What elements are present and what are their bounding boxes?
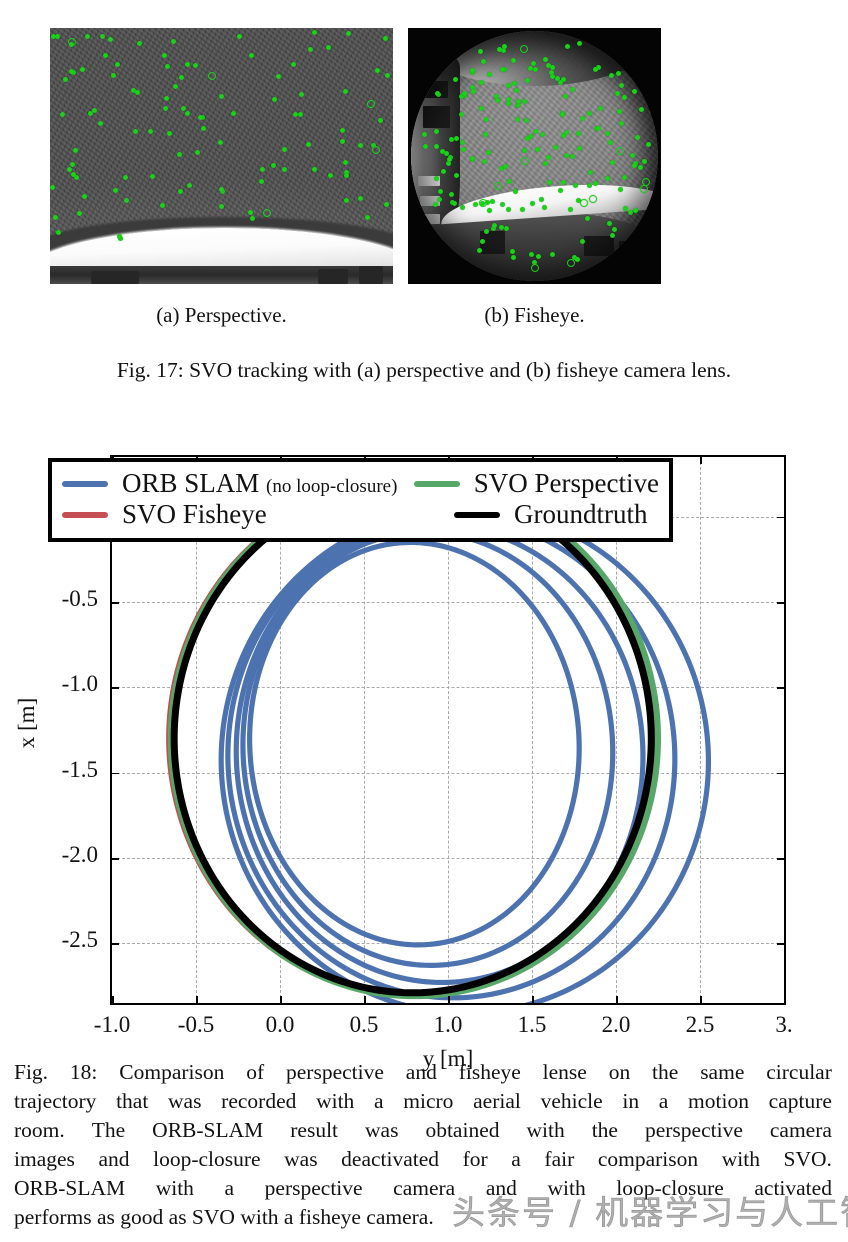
feature-point (340, 139, 345, 144)
feature-point (299, 92, 304, 97)
figure-17-caption: Fig. 17: SVO tracking with (a) perspecti… (0, 358, 848, 383)
x-tick-label: 2.5 (660, 1012, 740, 1038)
axis-tick (111, 943, 119, 945)
legend-entry-svo-perspective: SVO Perspective (414, 468, 659, 499)
legend-entry-svo-fisheye: SVO Fisheye (62, 499, 454, 530)
feature-point (593, 67, 598, 72)
axis-tick (616, 996, 618, 1004)
feature-point (550, 252, 555, 257)
x-tick-label: 0.5 (324, 1012, 404, 1038)
feature-point (70, 162, 75, 167)
feature-point (585, 216, 590, 221)
feature-point (525, 136, 530, 141)
feature-point (308, 47, 313, 52)
feature-point (306, 142, 311, 147)
feature-point (511, 58, 516, 63)
axis-tick (532, 996, 534, 1004)
feature-point (162, 53, 167, 58)
axis-tick (448, 996, 450, 1004)
feature-point (137, 41, 142, 46)
feature-point (514, 88, 519, 93)
axis-tick (111, 773, 119, 775)
axis-tick (112, 996, 114, 1004)
feature-point (616, 147, 624, 155)
feature-point (460, 140, 465, 145)
feature-point (449, 192, 454, 197)
feature-point (148, 129, 153, 134)
feature-point (181, 106, 186, 111)
feature-point (622, 175, 627, 180)
feature-point (55, 34, 60, 39)
feature-point (312, 167, 317, 172)
feature-point (100, 34, 105, 39)
axis-tick (784, 456, 786, 464)
feature-point (520, 207, 525, 212)
feature-point (543, 161, 548, 166)
feature-point (173, 84, 178, 89)
feature-point (326, 45, 331, 50)
fisheye-disc (411, 31, 659, 282)
feature-point (619, 83, 624, 88)
feature-point (520, 45, 528, 53)
axis-tick (777, 602, 785, 604)
y-tick-label: -2.5 (0, 927, 98, 953)
x-tick-label: 2.0 (576, 1012, 656, 1038)
feature-point (358, 196, 363, 201)
y-axis-title: x [m] (14, 663, 40, 783)
feature-point (529, 252, 534, 257)
feature-point (633, 208, 638, 213)
feature-point (447, 157, 452, 162)
axis-tick (111, 858, 119, 860)
legend-entry-orb-slam: ORB SLAM (no loop-closure) (62, 468, 414, 499)
feature-point (276, 74, 281, 79)
figure-18: ORB SLAM (no loop-closure) SVO Perspecti… (0, 430, 848, 1050)
feature-point (108, 37, 113, 42)
feature-point (271, 163, 276, 168)
axis-tick (777, 943, 785, 945)
legend-swatch-orb-slam (62, 481, 108, 487)
feature-point (512, 81, 517, 86)
feature-point (434, 144, 439, 149)
feature-point (565, 44, 570, 49)
legend-swatch-svo-perspective (414, 481, 460, 487)
perspective-object (318, 269, 349, 284)
feature-point (178, 189, 183, 194)
feature-point (135, 90, 140, 95)
feature-point (635, 135, 640, 140)
legend-row: ORB SLAM (no loop-closure) SVO Perspecti… (62, 468, 659, 499)
x-tick-label: -1.0 (72, 1012, 152, 1038)
axis-tick (280, 996, 282, 1004)
feature-point (478, 49, 483, 54)
feature-point (479, 199, 487, 207)
feature-point (593, 181, 598, 186)
feature-point (372, 146, 380, 154)
feature-point (550, 65, 555, 70)
perspective-object (359, 266, 383, 284)
feature-point (587, 183, 592, 188)
feature-point (564, 153, 569, 158)
feature-point (60, 112, 65, 117)
feature-point (502, 44, 507, 49)
feature-point (522, 99, 527, 104)
x-tick-label: 1.5 (492, 1012, 572, 1038)
fisheye-camera-image (408, 28, 661, 284)
watermark: 头条号 / 机器学习与人工智能 (452, 1186, 848, 1234)
legend-label-svo-perspective: SVO Perspective (474, 468, 659, 499)
feature-point (533, 67, 538, 72)
feature-point (555, 76, 560, 81)
axis-tick (196, 996, 198, 1004)
axis-tick (777, 517, 785, 519)
y-tick-label: -0.5 (0, 586, 98, 612)
feature-point (588, 170, 593, 175)
axis-tick (777, 687, 785, 689)
feature-point (481, 59, 486, 64)
y-tick-label: -2.0 (0, 842, 98, 868)
feature-point (115, 62, 120, 67)
feature-point (484, 117, 489, 122)
legend-label-svo-fisheye: SVO Fisheye (122, 499, 267, 530)
feature-point (576, 131, 581, 136)
feature-point (185, 111, 190, 116)
feature-point (479, 80, 484, 85)
axis-tick (700, 996, 702, 1004)
feature-point (441, 169, 446, 174)
feature-point (558, 80, 563, 85)
caption-line: room.TheORB-SLAMresultwasobtainedwiththe… (14, 1116, 832, 1145)
feature-point (201, 126, 206, 131)
axis-tick (364, 996, 366, 1004)
feature-point (540, 132, 545, 137)
feature-point (248, 210, 253, 215)
feature-point (67, 167, 72, 172)
trajectory-path (250, 542, 580, 944)
feature-point (553, 145, 558, 150)
feature-point (596, 126, 601, 131)
feature-point (133, 129, 138, 134)
feature-point (494, 182, 502, 190)
feature-point (375, 68, 380, 73)
feature-point (623, 206, 628, 211)
figure-17: (a) Perspective. (b) Fisheye. Fig. 17: S… (0, 0, 848, 400)
axis-tick (777, 858, 785, 860)
feature-point (195, 150, 200, 155)
feature-point (111, 73, 116, 78)
feature-point (92, 108, 97, 113)
caption-line: Fig.18:Comparisonofperspectiveandfisheye… (14, 1058, 832, 1087)
feature-point (453, 77, 458, 82)
feature-point (163, 106, 168, 111)
caption-line: trajectorythatwasrecordedwithamicroaeria… (14, 1087, 832, 1116)
chart-legend: ORB SLAM (no loop-closure) SVO Perspecti… (48, 458, 673, 542)
axis-tick (777, 773, 785, 775)
feature-point (71, 172, 76, 177)
feature-point (483, 132, 488, 137)
feature-point (63, 77, 68, 82)
x-tick-label: -0.5 (156, 1012, 236, 1038)
feature-point (237, 34, 242, 39)
feature-point (422, 132, 427, 137)
axis-tick (700, 456, 702, 464)
subcaption-perspective: (a) Perspective. (50, 303, 393, 328)
feature-point (477, 248, 482, 253)
feature-point (507, 179, 512, 184)
feature-point (495, 98, 500, 103)
legend-row: SVO Fisheye Groundtruth (62, 499, 659, 530)
feature-point (504, 226, 509, 231)
feature-point (612, 227, 617, 232)
feature-point (82, 194, 87, 199)
feature-point (568, 207, 573, 212)
x-tick-label: 0.0 (240, 1012, 320, 1038)
subcaption-fisheye: (b) Fisheye. (408, 303, 661, 328)
legend-swatch-groundtruth (454, 512, 500, 518)
feature-point (185, 62, 190, 67)
feature-point (259, 179, 264, 184)
x-tick-label: 1.0 (408, 1012, 488, 1038)
feature-point (312, 30, 317, 35)
feature-point (150, 174, 155, 179)
feature-point (343, 160, 348, 165)
axis-tick (784, 996, 786, 1004)
perspective-camera-image (50, 28, 393, 284)
perspective-object (91, 271, 139, 284)
feature-point (609, 73, 614, 78)
feature-point (587, 111, 592, 116)
feature-point (516, 99, 521, 104)
legend-label-orb-slam: ORB SLAM (no loop-closure) (122, 468, 397, 499)
feature-point (632, 163, 637, 168)
feature-point (500, 67, 505, 72)
feature-point (378, 118, 383, 123)
feature-point (543, 57, 548, 62)
legend-label-groundtruth: Groundtruth (514, 499, 647, 530)
feature-point (492, 223, 497, 228)
axis-tick (111, 687, 119, 689)
feature-point (346, 31, 351, 36)
feature-point (536, 254, 541, 259)
feature-point (124, 198, 129, 203)
caption-line: imagesandloop-closurewasdeactivatedforaf… (14, 1145, 832, 1174)
x-tick-label: 3. (744, 1012, 824, 1038)
feature-point (618, 187, 623, 192)
feature-point (528, 66, 533, 71)
feature-point (460, 205, 465, 210)
legend-entry-groundtruth: Groundtruth (454, 499, 647, 530)
feature-point (344, 173, 349, 178)
legend-swatch-svo-fisheye (62, 512, 108, 518)
feature-point (549, 70, 554, 75)
feature-point (638, 165, 643, 170)
feature-point (482, 159, 487, 164)
feature-point (117, 234, 122, 239)
feature-point (619, 121, 624, 126)
feature-point (608, 140, 613, 145)
axis-tick (111, 602, 119, 604)
